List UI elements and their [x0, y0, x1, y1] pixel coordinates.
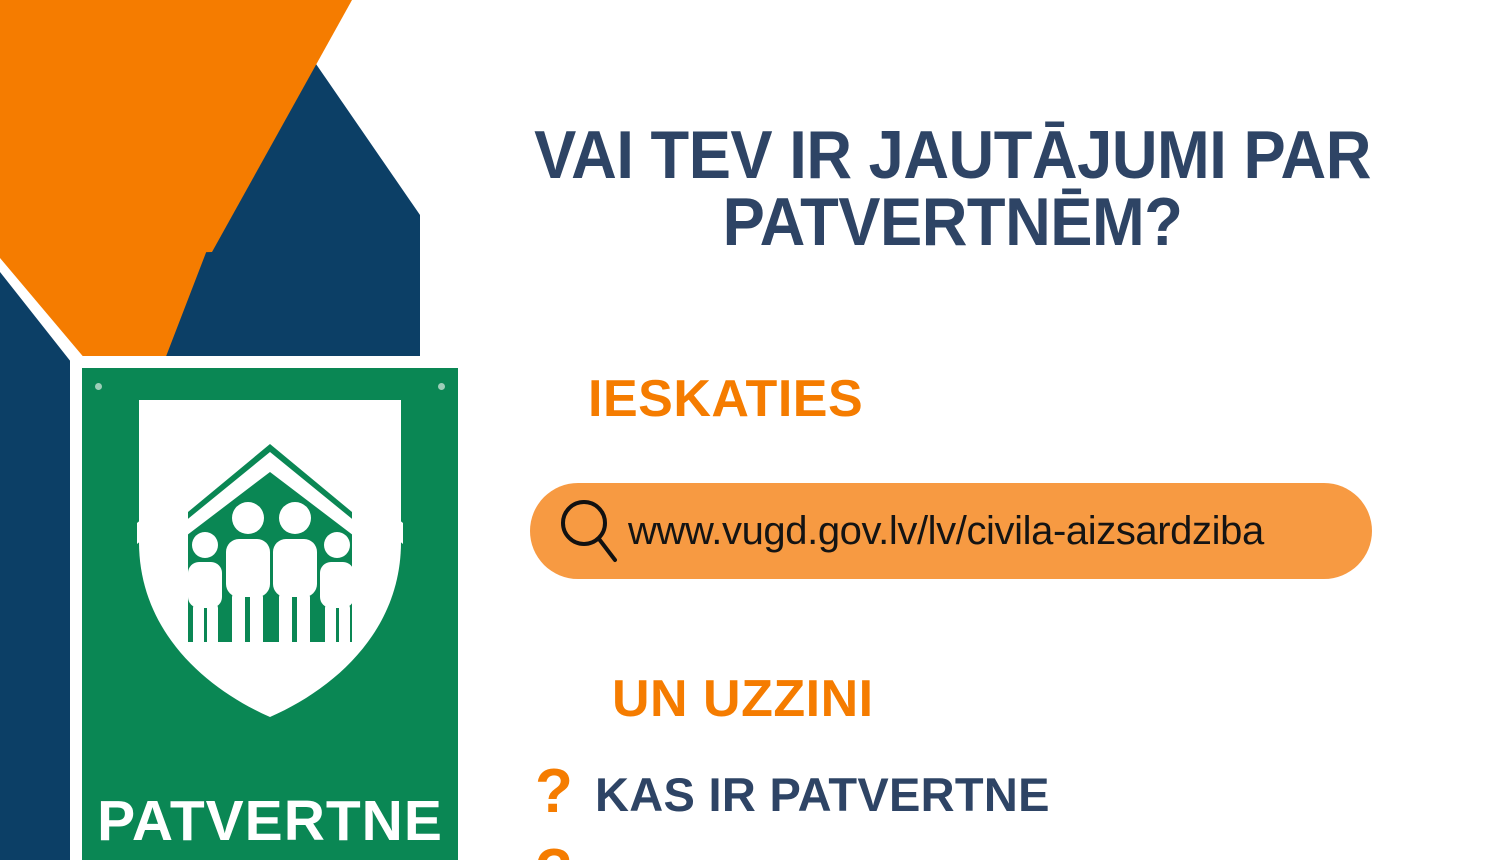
- search-icon: [558, 496, 620, 566]
- screw-hole-left-icon: [95, 383, 102, 390]
- cta-kicker-ieskaties: IESKATIES: [588, 373, 863, 425]
- list-item: ?: [535, 843, 1435, 860]
- sign-caption: PATVERTNE: [82, 793, 458, 850]
- question-mark-icon: ?: [535, 843, 577, 860]
- shelter-shield-emblem-icon: [131, 392, 409, 722]
- page-title: VAI TEV IR JAUTĀJUMI PAR PATVERTNĒM?: [513, 122, 1392, 255]
- learn-kicker-un-uzzini: UN UZZINI: [612, 673, 874, 725]
- question-label: KAS IR PATVERTNE: [595, 763, 1050, 821]
- poster-canvas: PATVERTNE VAI TEV IR JAUTĀJUMI PAR PATVE…: [0, 0, 1500, 860]
- orange-wedge-shape-upper: [0, 0, 352, 258]
- sign-panel: PATVERTNE: [82, 368, 458, 860]
- list-item: ? KAS IR PATVERTNE: [535, 763, 1435, 825]
- search-bar[interactable]: www.vugd.gov.lv/lv/civila-aizsardziba: [530, 483, 1372, 579]
- search-url-text[interactable]: www.vugd.gov.lv/lv/civila-aizsardziba: [628, 509, 1264, 554]
- question-list: ? KAS IR PATVERTNE ?: [535, 763, 1435, 860]
- screw-hole-right-icon: [438, 383, 445, 390]
- patvertne-sign: PATVERTNE: [70, 356, 470, 860]
- question-mark-icon: ?: [535, 763, 577, 820]
